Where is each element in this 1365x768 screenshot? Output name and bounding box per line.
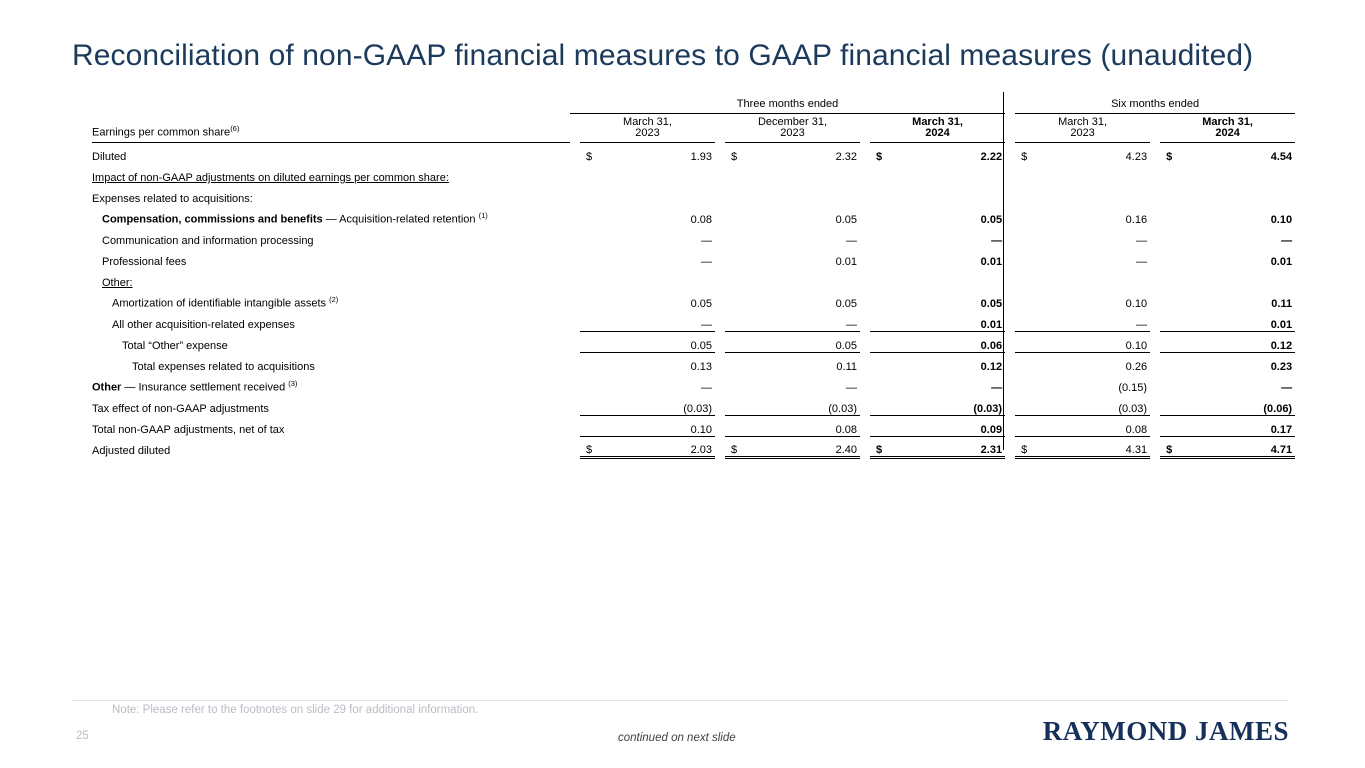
column-gap bbox=[715, 247, 725, 268]
value-cell: — bbox=[725, 226, 860, 247]
column-gap bbox=[715, 331, 725, 352]
value-text: 0.23 bbox=[1271, 361, 1292, 373]
column-gap bbox=[1150, 289, 1160, 310]
page-number: 25 bbox=[76, 730, 89, 742]
row-label: Tax effect of non-GAAP adjustments bbox=[92, 394, 570, 415]
value-cell: — bbox=[870, 373, 1005, 394]
row-label-text: Total non-GAAP adjustments, net of tax bbox=[92, 424, 284, 436]
table-row: Total non-GAAP adjustments, net of tax 0… bbox=[92, 415, 1295, 436]
column-gap bbox=[1150, 436, 1160, 457]
row-label-text: Adjusted diluted bbox=[92, 445, 170, 457]
reconciliation-table: Three months ended Six months endedEarni… bbox=[92, 92, 1295, 459]
column-gap bbox=[860, 436, 870, 457]
column-header-month: March 31, bbox=[580, 117, 715, 128]
value-cell: 0.10 bbox=[1160, 205, 1295, 226]
value-cell: $4.31 bbox=[1015, 436, 1150, 457]
value-cell: 0.08 bbox=[1015, 415, 1150, 436]
column-gap bbox=[570, 226, 580, 247]
table-row: Impact of non-GAAP adjustments on dilute… bbox=[92, 163, 1295, 184]
column-gap bbox=[1150, 247, 1160, 268]
value-cell: 0.12 bbox=[1160, 331, 1295, 352]
column-gap bbox=[570, 373, 580, 394]
column-gap bbox=[1005, 247, 1015, 268]
value-text: 2.22 bbox=[981, 151, 1002, 163]
value-text: 0.08 bbox=[691, 214, 712, 226]
value-text: 1.93 bbox=[691, 151, 712, 163]
column-gap bbox=[715, 373, 725, 394]
row-label: Other — Insurance settlement received (3… bbox=[92, 373, 570, 394]
value-text: — bbox=[701, 235, 712, 247]
row-label-text: All other acquisition-related expenses bbox=[112, 319, 295, 331]
value-cell: — bbox=[580, 226, 715, 247]
value-text: 0.01 bbox=[836, 256, 857, 268]
value-text: — bbox=[991, 382, 1002, 394]
currency-symbol: $ bbox=[1166, 152, 1172, 163]
row-header-text: Earnings per common share bbox=[92, 127, 230, 139]
column-gap bbox=[1150, 415, 1160, 436]
row-label-footnote: (3) bbox=[288, 379, 297, 388]
table-row-header-label: Earnings per common share(6) bbox=[92, 113, 570, 142]
value-text: 0.11 bbox=[1271, 298, 1292, 310]
group-header-three-months: Three months ended bbox=[570, 92, 1005, 113]
column-gap bbox=[1005, 415, 1015, 436]
column-gap bbox=[1150, 113, 1160, 142]
value-cell: (0.03) bbox=[725, 394, 860, 415]
value-cell: $4.23 bbox=[1015, 142, 1150, 163]
column-gap bbox=[570, 415, 580, 436]
column-gap bbox=[1005, 184, 1015, 205]
value-text: 0.05 bbox=[691, 298, 712, 310]
column-gap bbox=[715, 394, 725, 415]
column-gap bbox=[570, 205, 580, 226]
table-row: Total “Other” expense 0.05 0.05 0.06 0.1… bbox=[92, 331, 1295, 352]
column-header-month: December 31, bbox=[725, 117, 860, 128]
value-cell: — bbox=[1160, 373, 1295, 394]
value-cell: (0.06) bbox=[1160, 394, 1295, 415]
value-text: — bbox=[1136, 235, 1147, 247]
column-gap bbox=[860, 415, 870, 436]
column-gap bbox=[715, 163, 725, 184]
value-cell bbox=[1160, 184, 1295, 205]
column-gap bbox=[860, 142, 870, 163]
currency-symbol: $ bbox=[731, 152, 737, 163]
value-text: 0.17 bbox=[1271, 424, 1292, 436]
value-text: 0.05 bbox=[836, 340, 857, 352]
value-text: — bbox=[1281, 235, 1292, 247]
row-label: Compensation, commissions and benefits —… bbox=[92, 205, 570, 226]
column-gap bbox=[860, 268, 870, 289]
table-row: Tax effect of non-GAAP adjustments (0.03… bbox=[92, 394, 1295, 415]
value-cell bbox=[870, 163, 1005, 184]
value-text: 0.08 bbox=[836, 424, 857, 436]
value-cell: 0.05 bbox=[580, 289, 715, 310]
value-text: 4.71 bbox=[1271, 444, 1292, 456]
value-cell: — bbox=[580, 373, 715, 394]
value-cell: — bbox=[725, 373, 860, 394]
currency-symbol: $ bbox=[586, 152, 592, 163]
column-gap bbox=[860, 113, 870, 142]
value-cell bbox=[870, 268, 1005, 289]
row-label-text: Professional fees bbox=[102, 256, 186, 268]
value-cell: $2.22 bbox=[870, 142, 1005, 163]
column-gap bbox=[860, 373, 870, 394]
column-gap bbox=[860, 226, 870, 247]
table-row: Professional fees — 0.01 0.01 — 0.01 bbox=[92, 247, 1295, 268]
row-header-footnote: (6) bbox=[230, 124, 239, 133]
row-label-footnote: (2) bbox=[329, 295, 338, 304]
value-cell: (0.03) bbox=[870, 394, 1005, 415]
value-text: 0.10 bbox=[1126, 340, 1147, 352]
row-label: Total non-GAAP adjustments, net of tax bbox=[92, 415, 570, 436]
value-cell: (0.15) bbox=[1015, 373, 1150, 394]
value-cell: 0.05 bbox=[870, 205, 1005, 226]
value-cell: 0.08 bbox=[725, 415, 860, 436]
value-cell bbox=[580, 268, 715, 289]
column-gap bbox=[715, 184, 725, 205]
footnote-reference: Note: Please refer to the footnotes on s… bbox=[112, 704, 478, 716]
column-header-year: 2024 bbox=[870, 128, 1005, 139]
value-cell bbox=[1015, 268, 1150, 289]
column-gap bbox=[1005, 289, 1015, 310]
column-gap bbox=[860, 163, 870, 184]
value-text: — bbox=[1136, 319, 1147, 331]
value-cell bbox=[1015, 163, 1150, 184]
value-text: (0.15) bbox=[1118, 382, 1147, 394]
value-cell bbox=[725, 163, 860, 184]
column-gap bbox=[1150, 268, 1160, 289]
currency-symbol: $ bbox=[731, 445, 737, 456]
value-text: — bbox=[846, 319, 857, 331]
value-cell bbox=[1160, 268, 1295, 289]
value-text: — bbox=[1281, 382, 1292, 394]
value-cell bbox=[580, 163, 715, 184]
column-gap bbox=[1005, 205, 1015, 226]
table-row: Other: bbox=[92, 268, 1295, 289]
value-cell: 0.13 bbox=[580, 352, 715, 373]
column-gap bbox=[715, 205, 725, 226]
row-label: Adjusted diluted bbox=[92, 436, 570, 457]
value-cell: 0.26 bbox=[1015, 352, 1150, 373]
group-header-blank bbox=[92, 92, 570, 113]
value-cell bbox=[1160, 163, 1295, 184]
column-gap bbox=[1150, 205, 1160, 226]
table-row: Compensation, commissions and benefits —… bbox=[92, 205, 1295, 226]
value-cell: 0.10 bbox=[1015, 331, 1150, 352]
value-text: — bbox=[846, 382, 857, 394]
table-row: Communication and information processing… bbox=[92, 226, 1295, 247]
column-gap bbox=[1005, 163, 1015, 184]
value-cell: — bbox=[725, 310, 860, 331]
column-gap bbox=[1150, 184, 1160, 205]
row-label: Amortization of identifiable intangible … bbox=[92, 289, 570, 310]
value-text: — bbox=[846, 235, 857, 247]
value-cell: 0.08 bbox=[580, 205, 715, 226]
column-gap bbox=[570, 310, 580, 331]
value-cell: 0.01 bbox=[1160, 247, 1295, 268]
column-header-month: March 31, bbox=[1015, 117, 1150, 128]
value-text: (0.06) bbox=[1263, 403, 1292, 415]
column-gap bbox=[715, 352, 725, 373]
column-gap bbox=[570, 268, 580, 289]
column-gap bbox=[860, 310, 870, 331]
value-cell: 0.06 bbox=[870, 331, 1005, 352]
value-text: 4.23 bbox=[1126, 151, 1147, 163]
currency-symbol: $ bbox=[876, 445, 882, 456]
value-text: 2.31 bbox=[981, 444, 1002, 456]
column-header-month: March 31, bbox=[870, 117, 1005, 128]
column-gap bbox=[1005, 394, 1015, 415]
value-text: (0.03) bbox=[973, 403, 1002, 415]
page-title: Reconciliation of non-GAAP financial mea… bbox=[72, 38, 1253, 74]
column-gap bbox=[1005, 113, 1015, 142]
column-header-year: 2023 bbox=[1015, 128, 1150, 139]
row-label-text: Diluted bbox=[92, 151, 126, 163]
column-gap bbox=[1005, 373, 1015, 394]
row-label-strong: Compensation, commissions and benefits bbox=[102, 214, 323, 226]
value-text: 0.11 bbox=[836, 361, 857, 373]
currency-symbol: $ bbox=[1021, 152, 1027, 163]
row-label-rest: — Insurance settlement received bbox=[121, 382, 288, 394]
value-text: 2.03 bbox=[691, 444, 712, 456]
row-label: Expenses related to acquisitions: bbox=[92, 184, 570, 205]
table-row: All other acquisition-related expenses —… bbox=[92, 310, 1295, 331]
row-label-footnote: (1) bbox=[479, 211, 488, 220]
column-gap bbox=[1005, 226, 1015, 247]
row-label-text: Tax effect of non-GAAP adjustments bbox=[92, 403, 269, 415]
column-header-row: Earnings per common share(6) March 31,20… bbox=[92, 113, 1295, 142]
column-gap bbox=[1005, 268, 1015, 289]
value-cell: 0.11 bbox=[1160, 289, 1295, 310]
value-text: 0.05 bbox=[691, 340, 712, 352]
value-cell: 0.09 bbox=[870, 415, 1005, 436]
column-gap bbox=[1150, 352, 1160, 373]
column-gap bbox=[1150, 373, 1160, 394]
value-text: 0.01 bbox=[981, 256, 1002, 268]
currency-symbol: $ bbox=[1166, 445, 1172, 456]
column-gap bbox=[570, 113, 580, 142]
row-label: Total “Other” expense bbox=[92, 331, 570, 352]
value-cell: 0.16 bbox=[1015, 205, 1150, 226]
currency-symbol: $ bbox=[1021, 445, 1027, 456]
value-cell: 0.01 bbox=[725, 247, 860, 268]
value-cell bbox=[870, 184, 1005, 205]
column-gap bbox=[715, 310, 725, 331]
column-gap bbox=[1150, 142, 1160, 163]
column-gap bbox=[1005, 352, 1015, 373]
column-gap bbox=[715, 289, 725, 310]
value-text: 4.54 bbox=[1271, 151, 1292, 163]
value-text: 0.16 bbox=[1126, 214, 1147, 226]
value-text: 0.12 bbox=[1271, 340, 1292, 352]
column-header-year: 2024 bbox=[1160, 128, 1295, 139]
column-gap bbox=[1005, 436, 1015, 457]
value-text: 0.01 bbox=[1271, 256, 1292, 268]
column-gap bbox=[1005, 92, 1015, 113]
value-text: 4.31 bbox=[1126, 444, 1147, 456]
value-cell bbox=[580, 184, 715, 205]
value-cell: 0.05 bbox=[870, 289, 1005, 310]
value-cell: 0.05 bbox=[725, 331, 860, 352]
value-cell: $2.40 bbox=[725, 436, 860, 457]
column-gap bbox=[860, 331, 870, 352]
value-text: 0.01 bbox=[981, 319, 1002, 331]
value-cell: $4.54 bbox=[1160, 142, 1295, 163]
value-cell: 0.12 bbox=[870, 352, 1005, 373]
value-cell: — bbox=[1015, 310, 1150, 331]
column-gap bbox=[1005, 142, 1015, 163]
value-cell: 0.01 bbox=[870, 310, 1005, 331]
column-gap bbox=[860, 184, 870, 205]
raymond-james-logo: RAYMOND JAMES bbox=[1043, 716, 1289, 747]
value-text: 0.13 bbox=[691, 361, 712, 373]
value-cell: 0.10 bbox=[580, 415, 715, 436]
value-text: (0.03) bbox=[828, 403, 857, 415]
column-header-month: March 31, bbox=[1160, 117, 1295, 128]
column-gap bbox=[715, 268, 725, 289]
value-text: — bbox=[701, 256, 712, 268]
value-cell: $2.31 bbox=[870, 436, 1005, 457]
value-text: — bbox=[1136, 256, 1147, 268]
column-gap bbox=[570, 163, 580, 184]
column-gap bbox=[715, 226, 725, 247]
value-cell: 0.10 bbox=[1015, 289, 1150, 310]
value-cell: $4.71 bbox=[1160, 436, 1295, 457]
value-cell: $1.93 bbox=[580, 142, 715, 163]
value-cell: — bbox=[580, 310, 715, 331]
value-text: — bbox=[701, 319, 712, 331]
value-cell: 0.17 bbox=[1160, 415, 1295, 436]
column-gap bbox=[570, 247, 580, 268]
value-text: — bbox=[991, 235, 1002, 247]
column-gap bbox=[1005, 331, 1015, 352]
value-text: 0.01 bbox=[1271, 319, 1292, 331]
column-gap bbox=[570, 394, 580, 415]
value-cell: 0.05 bbox=[725, 289, 860, 310]
column-gap bbox=[570, 289, 580, 310]
value-cell: 0.05 bbox=[725, 205, 860, 226]
table-row: Expenses related to acquisitions: bbox=[92, 184, 1295, 205]
column-header-5: March 31,2024 bbox=[1160, 113, 1295, 142]
value-text: 0.05 bbox=[981, 214, 1002, 226]
table-row: Amortization of identifiable intangible … bbox=[92, 289, 1295, 310]
column-gap bbox=[1150, 226, 1160, 247]
reconciliation-table-container: Three months ended Six months endedEarni… bbox=[92, 92, 1285, 459]
value-text: 0.08 bbox=[1126, 424, 1147, 436]
column-gap bbox=[860, 394, 870, 415]
value-text: 0.10 bbox=[1126, 298, 1147, 310]
value-text: 0.06 bbox=[981, 340, 1002, 352]
value-text: (0.03) bbox=[1118, 403, 1147, 415]
column-gap bbox=[570, 352, 580, 373]
value-cell bbox=[725, 184, 860, 205]
row-label-text: Other: bbox=[102, 277, 133, 289]
value-text: 2.40 bbox=[836, 444, 857, 456]
row-label: Communication and information processing bbox=[92, 226, 570, 247]
column-gap bbox=[570, 331, 580, 352]
value-text: (0.03) bbox=[683, 403, 712, 415]
currency-symbol: $ bbox=[876, 152, 882, 163]
row-label-text: Impact of non-GAAP adjustments on dilute… bbox=[92, 172, 449, 184]
value-cell: (0.03) bbox=[1015, 394, 1150, 415]
row-label-strong: Other bbox=[92, 382, 121, 394]
row-label: Diluted bbox=[92, 142, 570, 163]
column-gap bbox=[715, 436, 725, 457]
column-header-1: March 31,2023 bbox=[580, 113, 715, 142]
table-row: Other — Insurance settlement received (3… bbox=[92, 373, 1295, 394]
column-gap bbox=[1005, 310, 1015, 331]
table-row: Diluted $1.93 $2.32 $2.22 $4.23 $4.54 bbox=[92, 142, 1295, 163]
row-label: All other acquisition-related expenses bbox=[92, 310, 570, 331]
group-header-row: Three months ended Six months ended bbox=[92, 92, 1295, 113]
row-label-rest: — Acquisition-related retention bbox=[323, 214, 479, 226]
column-gap bbox=[715, 142, 725, 163]
continued-label: continued on next slide bbox=[618, 732, 736, 744]
column-gap bbox=[1150, 310, 1160, 331]
value-cell: $2.32 bbox=[725, 142, 860, 163]
value-cell: — bbox=[1015, 247, 1150, 268]
value-cell: 0.05 bbox=[580, 331, 715, 352]
column-gap bbox=[1150, 331, 1160, 352]
row-label-text: Total “Other” expense bbox=[122, 340, 228, 352]
table-row: Total expenses related to acquisitions 0… bbox=[92, 352, 1295, 373]
value-cell: — bbox=[1015, 226, 1150, 247]
row-label: Other: bbox=[92, 268, 570, 289]
value-cell: 0.23 bbox=[1160, 352, 1295, 373]
value-cell: — bbox=[1160, 226, 1295, 247]
footer-divider bbox=[72, 700, 1288, 701]
value-text: 0.10 bbox=[691, 424, 712, 436]
value-cell: (0.03) bbox=[580, 394, 715, 415]
row-label-text: Communication and information processing bbox=[102, 235, 314, 247]
value-text: 2.32 bbox=[836, 151, 857, 163]
row-label-text: Amortization of identifiable intangible … bbox=[112, 298, 329, 310]
column-gap bbox=[1150, 394, 1160, 415]
column-gap bbox=[570, 184, 580, 205]
row-label-text: Expenses related to acquisitions: bbox=[92, 193, 253, 205]
column-gap bbox=[1150, 163, 1160, 184]
column-header-4: March 31,2023 bbox=[1015, 113, 1150, 142]
value-text: 0.26 bbox=[1126, 361, 1147, 373]
value-text: 0.05 bbox=[836, 298, 857, 310]
column-header-year: 2023 bbox=[725, 128, 860, 139]
value-text: 0.05 bbox=[981, 298, 1002, 310]
row-label: Impact of non-GAAP adjustments on dilute… bbox=[92, 163, 570, 184]
row-label: Professional fees bbox=[92, 247, 570, 268]
value-cell: 0.11 bbox=[725, 352, 860, 373]
value-text: 0.12 bbox=[981, 361, 1002, 373]
column-gap bbox=[715, 415, 725, 436]
value-cell: — bbox=[580, 247, 715, 268]
value-text: — bbox=[701, 382, 712, 394]
value-cell: 0.01 bbox=[870, 247, 1005, 268]
value-cell bbox=[725, 268, 860, 289]
value-cell bbox=[1015, 184, 1150, 205]
row-label-text: Total expenses related to acquisitions bbox=[132, 361, 315, 373]
value-text: 0.05 bbox=[836, 214, 857, 226]
column-gap bbox=[715, 113, 725, 142]
value-text: 0.09 bbox=[981, 424, 1002, 436]
column-header-3: March 31,2024 bbox=[870, 113, 1005, 142]
column-gap bbox=[860, 205, 870, 226]
column-gap bbox=[860, 352, 870, 373]
value-cell: 0.01 bbox=[1160, 310, 1295, 331]
value-text: 0.10 bbox=[1271, 214, 1292, 226]
table-row: Adjusted diluted $2.03 $2.40 $2.31 $4.31… bbox=[92, 436, 1295, 457]
currency-symbol: $ bbox=[586, 445, 592, 456]
column-gap bbox=[570, 142, 580, 163]
group-header-six-months: Six months ended bbox=[1015, 92, 1295, 113]
value-cell: $2.03 bbox=[580, 436, 715, 457]
